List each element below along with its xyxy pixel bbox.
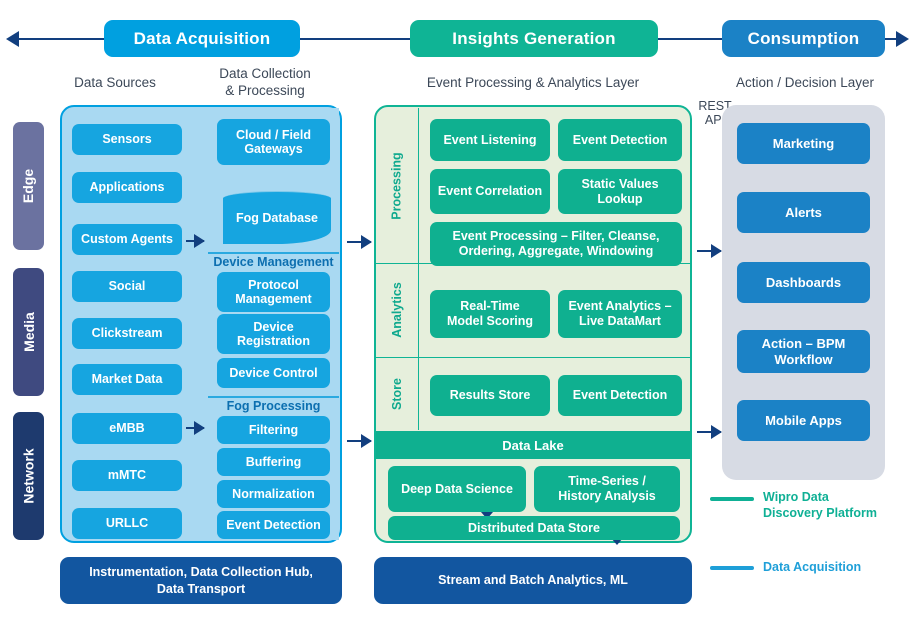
event-processing-wide[interactable]: Event Processing – Filter, Cleanse, Orde… xyxy=(430,222,682,266)
source-sensors[interactable]: Sensors xyxy=(72,124,182,155)
time-series-line1: Time-Series / xyxy=(568,474,646,489)
real-time-model-scoring-line1: Real-Time xyxy=(460,299,520,314)
protocol-management-line2: Management xyxy=(235,292,311,306)
section-label-processing: Processing xyxy=(376,110,418,262)
results-store[interactable]: Results Store xyxy=(430,375,550,416)
event-analytics-line1: Event Analytics – xyxy=(568,299,671,314)
source-market-data[interactable]: Market Data xyxy=(72,364,182,395)
divider-device-management xyxy=(208,252,339,254)
tier-edge-label: Edge xyxy=(21,169,37,203)
flow-line-3 xyxy=(658,38,722,40)
data-lake-label: Data Lake xyxy=(502,438,563,453)
time-series-history-analysis[interactable]: Time-Series / History Analysis xyxy=(534,466,680,512)
fog-event-detection[interactable]: Event Detection xyxy=(217,511,330,539)
static-values-lookup[interactable]: Static Values Lookup xyxy=(558,169,682,214)
heading-device-management: Device Management xyxy=(208,255,339,269)
section-label-analytics-text: Analytics xyxy=(390,282,404,338)
time-series-line2: History Analysis xyxy=(558,489,656,504)
source-urllc[interactable]: URLLC xyxy=(72,508,182,539)
fog-buffering[interactable]: Buffering xyxy=(217,448,330,476)
flow-line-2 xyxy=(300,38,410,40)
caption-event-layer: Event Processing & Analytics Layer xyxy=(383,75,683,92)
consumption-action-line2: Workflow xyxy=(774,352,832,368)
legend-label-acquisition: Data Acquisition xyxy=(763,560,908,576)
event-detection-store[interactable]: Event Detection xyxy=(558,375,682,416)
flow-arrow-right xyxy=(896,31,909,47)
static-values-lookup-line2: Lookup xyxy=(597,192,642,207)
fog-filtering[interactable]: Filtering xyxy=(217,416,330,444)
connector-sources-to-gateways xyxy=(186,240,204,242)
fog-database-label: Fog Database xyxy=(223,191,331,244)
banner-insights-generation[interactable]: Insights Generation xyxy=(410,20,658,57)
section-label-store-text: Store xyxy=(390,378,404,410)
source-clickstream[interactable]: Clickstream xyxy=(72,318,182,349)
section-label-analytics: Analytics xyxy=(376,264,418,356)
caption-data-collection-line1: Data Collection xyxy=(195,66,335,83)
insights-vertical-divider xyxy=(418,108,419,430)
gateways-line2: Gateways xyxy=(244,142,302,156)
legend-wipro-line1: Wipro Data xyxy=(763,490,908,506)
caption-data-collection: Data Collection & Processing xyxy=(195,66,335,100)
bottom-bar-instrumentation-line2: Data Transport xyxy=(157,581,245,597)
consumption-dashboards[interactable]: Dashboards xyxy=(737,262,870,303)
connector-insights-to-marketing xyxy=(697,250,721,252)
fog-normalization[interactable]: Normalization xyxy=(217,480,330,508)
protocol-management[interactable]: Protocol Management xyxy=(217,272,330,312)
insights-divider-analytics-store xyxy=(376,357,690,358)
divider-fog-processing xyxy=(208,396,339,398)
device-control[interactable]: Device Control xyxy=(217,358,330,388)
deep-data-science[interactable]: Deep Data Science xyxy=(388,466,526,512)
banner-consumption[interactable]: Consumption xyxy=(722,20,885,57)
real-time-model-scoring[interactable]: Real-Time Model Scoring xyxy=(430,290,550,338)
event-correlation[interactable]: Event Correlation xyxy=(430,169,550,214)
caption-data-collection-line2: & Processing xyxy=(195,83,335,100)
consumption-action-bpm-workflow[interactable]: Action – BPM Workflow xyxy=(737,330,870,373)
connector-acquisition-to-processing xyxy=(347,241,371,243)
event-listening[interactable]: Event Listening xyxy=(430,119,550,161)
data-lake-band: Data Lake xyxy=(376,431,690,459)
legend-acquisition-line1: Data Acquisition xyxy=(763,560,908,576)
consumption-mobile-apps[interactable]: Mobile Apps xyxy=(737,400,870,441)
consumption-marketing[interactable]: Marketing xyxy=(737,123,870,164)
connector-sources-to-device-control xyxy=(186,427,204,429)
bottom-bar-instrumentation[interactable]: Instrumentation, Data Collection Hub, Da… xyxy=(60,557,342,604)
gateways-line1: Cloud / Field xyxy=(236,128,311,142)
source-custom-agents[interactable]: Custom Agents xyxy=(72,224,182,255)
legend-label-wipro: Wipro Data Discovery Platform xyxy=(763,490,908,521)
connector-acquisition-to-store xyxy=(347,440,371,442)
distributed-data-store[interactable]: Distributed Data Store xyxy=(388,516,680,540)
connector-insights-to-action xyxy=(697,431,721,433)
section-label-processing-text: Processing xyxy=(390,152,404,219)
device-registration[interactable]: Device Registration xyxy=(217,314,330,354)
event-analytics-live-datamart[interactable]: Event Analytics – Live DataMart xyxy=(558,290,682,338)
protocol-management-line1: Protocol xyxy=(248,278,299,292)
cloud-field-gateways[interactable]: Cloud / Field Gateways xyxy=(217,119,330,165)
real-time-model-scoring-line2: Model Scoring xyxy=(447,314,533,329)
source-mmtc[interactable]: mMTC xyxy=(72,460,182,491)
tier-media: Media xyxy=(13,268,44,396)
legend-swatch-wipro xyxy=(710,497,754,501)
tier-network-label: Network xyxy=(21,448,37,503)
section-label-store: Store xyxy=(376,358,418,430)
tier-network: Network xyxy=(13,412,44,540)
caption-data-sources: Data Sources xyxy=(50,75,180,92)
source-applications[interactable]: Applications xyxy=(72,172,182,203)
consumption-action-line1: Action – BPM xyxy=(762,336,846,352)
consumption-alerts[interactable]: Alerts xyxy=(737,192,870,233)
caption-action-layer: Action / Decision Layer xyxy=(715,75,895,92)
source-social[interactable]: Social xyxy=(72,271,182,302)
event-processing-line1: Event Processing – Filter, Cleanse, xyxy=(452,229,659,244)
event-analytics-line2: Live DataMart xyxy=(579,314,661,329)
flow-line-1 xyxy=(18,38,104,40)
heading-fog-processing: Fog Processing xyxy=(208,399,339,413)
tier-edge: Edge xyxy=(13,122,44,250)
legend-swatch-acquisition xyxy=(710,566,754,570)
architecture-diagram: Data Acquisition Insights Generation Con… xyxy=(0,0,913,629)
banner-data-acquisition[interactable]: Data Acquisition xyxy=(104,20,300,57)
fog-database[interactable]: Fog Database xyxy=(223,191,331,244)
tier-media-label: Media xyxy=(21,312,37,352)
event-detection-processing[interactable]: Event Detection xyxy=(558,119,682,161)
bottom-bar-stream-batch[interactable]: Stream and Batch Analytics, ML xyxy=(374,557,692,604)
static-values-lookup-line1: Static Values xyxy=(581,177,658,192)
source-embb[interactable]: eMBB xyxy=(72,413,182,444)
legend-wipro-line2: Discovery Platform xyxy=(763,506,908,522)
device-registration-line1: Device xyxy=(253,320,293,334)
bottom-bar-instrumentation-line1: Instrumentation, Data Collection Hub, xyxy=(89,564,313,580)
event-processing-line2: Ordering, Aggregate, Windowing xyxy=(459,244,654,259)
device-registration-line2: Registration xyxy=(237,334,310,348)
